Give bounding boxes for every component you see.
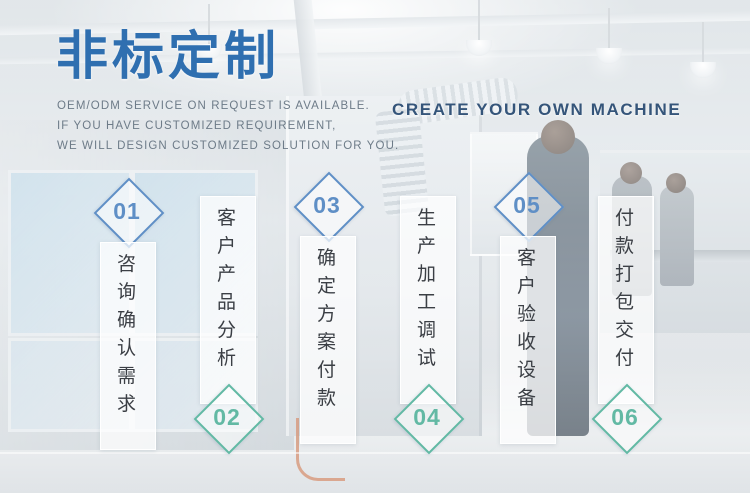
- step-label-06: 付 款 打 包 交 付: [598, 204, 652, 372]
- step-number-01: 01: [100, 198, 154, 225]
- step-number-04: 04: [400, 404, 454, 431]
- process-steps: 01 咨 询 确 认 需 求 客 户 产 品 分 析 02 03 确 定 方 案…: [0, 0, 750, 493]
- step-number-02: 02: [200, 404, 254, 431]
- step-number-05: 05: [500, 192, 554, 219]
- step-label-02: 客 户 产 品 分 析: [200, 204, 254, 372]
- step-label-03: 确 定 方 案 付 款: [300, 244, 354, 412]
- step-label-05: 客 户 验 收 设 备: [500, 244, 554, 412]
- step-number-06: 06: [598, 404, 652, 431]
- step-number-03: 03: [300, 192, 354, 219]
- step-label-01: 咨 询 确 认 需 求: [100, 250, 154, 418]
- step-label-04: 生 产 加 工 调 试: [400, 204, 454, 372]
- promo-banner: 非标定制 OEM/ODM SERVICE ON REQUEST IS AVAIL…: [0, 0, 750, 493]
